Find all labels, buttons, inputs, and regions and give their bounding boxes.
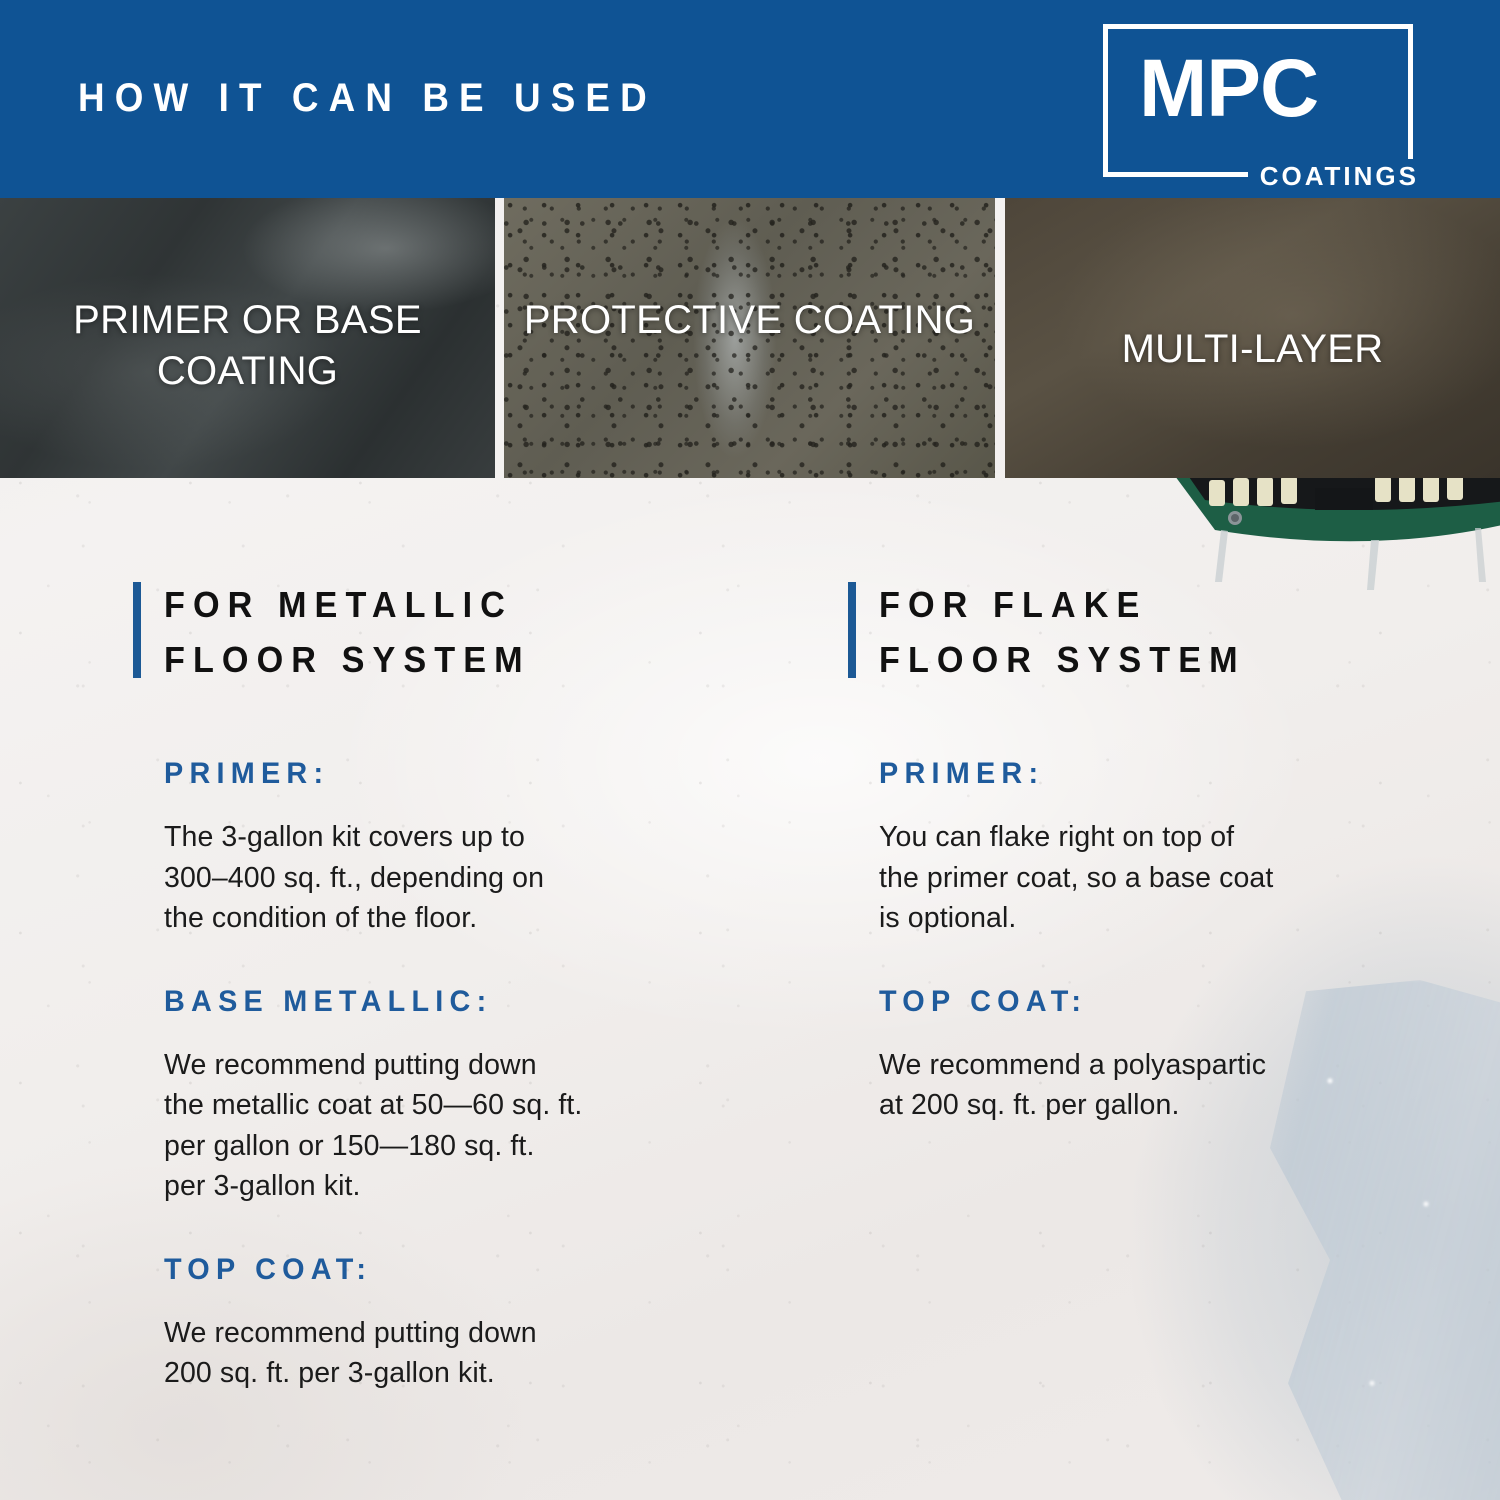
column-metallic-floor-system: FOR METALLIC FLOOR SYSTEM PRIMER: The 3-… — [133, 578, 763, 1394]
usage-panel-protective-coating: PROTECTIVE COATING — [504, 198, 995, 478]
block-body: We recommend putting down 200 sq. ft. pe… — [164, 1313, 763, 1394]
block-flake-primer: PRIMER: You can flake right on top of th… — [848, 759, 1408, 938]
usage-photo-strip: PRIMER OR BASE COATING PROTECTIVE COATIN… — [0, 198, 1500, 478]
block-body: We recommend a polyaspartic at 200 sq. f… — [879, 1045, 1408, 1126]
page-title: HOW IT CAN BE USED — [78, 78, 657, 118]
block-body: The 3-gallon kit covers up to 300–400 sq… — [164, 817, 763, 938]
section-heading-metallic: FOR METALLIC FLOOR SYSTEM — [133, 578, 763, 687]
block-label: PRIMER: — [164, 759, 739, 789]
block-label: BASE METALLIC: — [164, 987, 739, 1017]
infographic-page: HOW IT CAN BE USED MPC COATINGS PRIMER O… — [0, 0, 1500, 1500]
section-heading-text: FOR FLAKE FLOOR SYSTEM — [879, 578, 1382, 687]
block-metallic-top-coat: TOP COAT: We recommend putting down 200 … — [133, 1255, 763, 1394]
accent-bar — [133, 582, 141, 678]
column-flake-floor-system: FOR FLAKE FLOOR SYSTEM PRIMER: You can f… — [848, 578, 1408, 1126]
accent-bar — [848, 582, 856, 678]
panel-label: MULTI-LAYER — [1005, 324, 1500, 375]
background-green-object — [1175, 470, 1500, 590]
usage-panel-primer-or-base-coating: PRIMER OR BASE COATING — [0, 198, 495, 478]
block-body: You can flake right on top of the primer… — [879, 817, 1408, 938]
section-heading-text: FOR METALLIC FLOOR SYSTEM — [164, 578, 733, 687]
block-metallic-base-metallic: BASE METALLIC: We recommend putting down… — [133, 987, 763, 1207]
panel-label: PROTECTIVE COATING — [504, 295, 995, 346]
block-flake-top-coat: TOP COAT: We recommend a polyaspartic at… — [848, 987, 1408, 1126]
usage-panel-multi-layer: MULTI-LAYER — [1005, 198, 1500, 478]
mpc-coatings-logo: MPC COATINGS — [1103, 24, 1413, 177]
logo-wordmark: MPC — [1139, 48, 1318, 130]
section-heading-flake: FOR FLAKE FLOOR SYSTEM — [848, 578, 1408, 687]
logo-tagline: COATINGS — [1248, 159, 1421, 193]
page-header: HOW IT CAN BE USED MPC COATINGS — [0, 0, 1500, 198]
block-metallic-primer: PRIMER: The 3-gallon kit covers up to 30… — [133, 759, 763, 938]
block-body: We recommend putting down the metallic c… — [164, 1045, 763, 1207]
block-label: PRIMER: — [879, 759, 1387, 789]
block-label: TOP COAT: — [879, 987, 1387, 1017]
panel-label: PRIMER OR BASE COATING — [0, 295, 495, 397]
block-label: TOP COAT: — [164, 1255, 739, 1285]
